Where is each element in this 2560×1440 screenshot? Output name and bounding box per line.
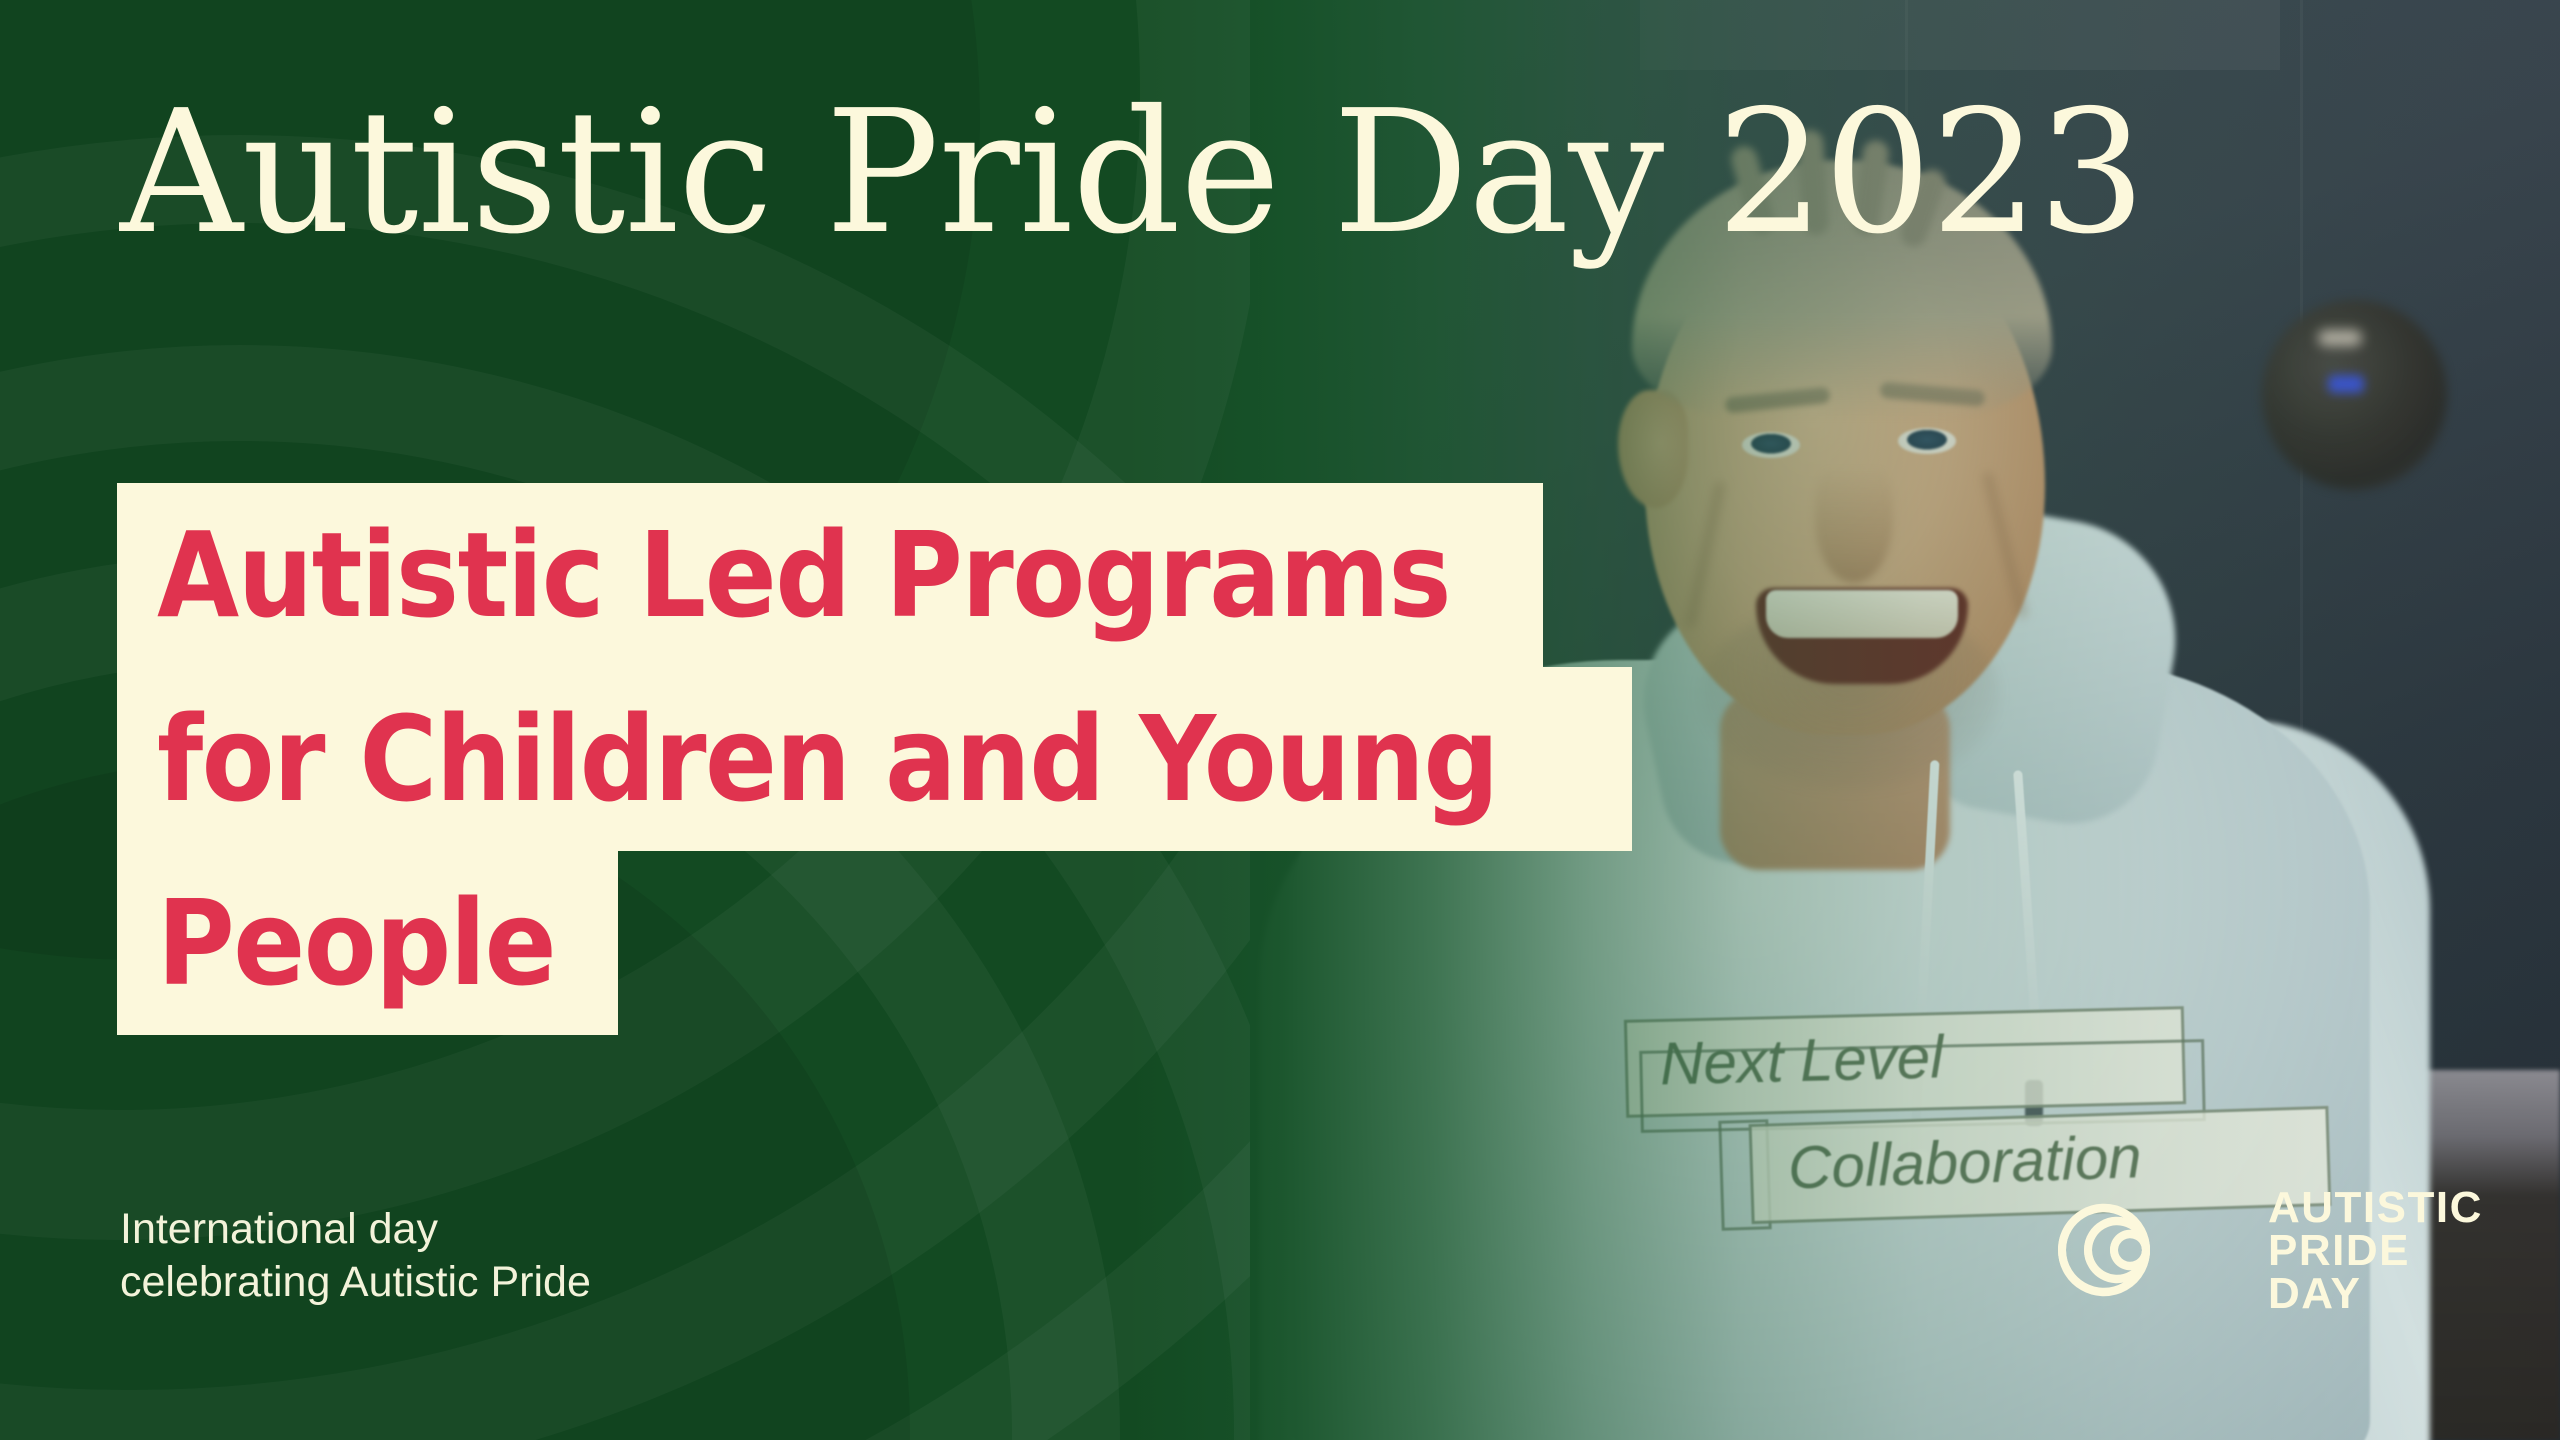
subtext-line-1: International day <box>120 1203 591 1256</box>
logo-word-1: AUTISTIC <box>2268 1186 2483 1229</box>
logo-word-2: PRIDE <box>2268 1229 2483 1272</box>
logo-wordmark: AUTISTIC PRIDE DAY <box>2268 1186 2483 1315</box>
infinity-spiral-icon <box>2046 1190 2246 1310</box>
headline-block: Autistic Led Programs for Children and Y… <box>117 483 1632 1035</box>
logo-word-3: DAY <box>2268 1272 2483 1315</box>
poster-canvas: Next Level Collaboration Autistic Pride … <box>0 0 2560 1440</box>
subtext-block: International day celebrating Autistic P… <box>120 1203 591 1309</box>
autistic-pride-day-logo: AUTISTIC PRIDE DAY <box>2046 1190 2446 1310</box>
headline-line-1: Autistic Led Programs <box>117 483 1543 667</box>
headline-line-2: for Children and Young <box>117 667 1632 851</box>
page-title: Autistic Pride Day 2023 <box>120 88 2145 258</box>
subtext-line-2: celebrating Autistic Pride <box>120 1256 591 1309</box>
headline-line-3: People <box>117 851 618 1035</box>
